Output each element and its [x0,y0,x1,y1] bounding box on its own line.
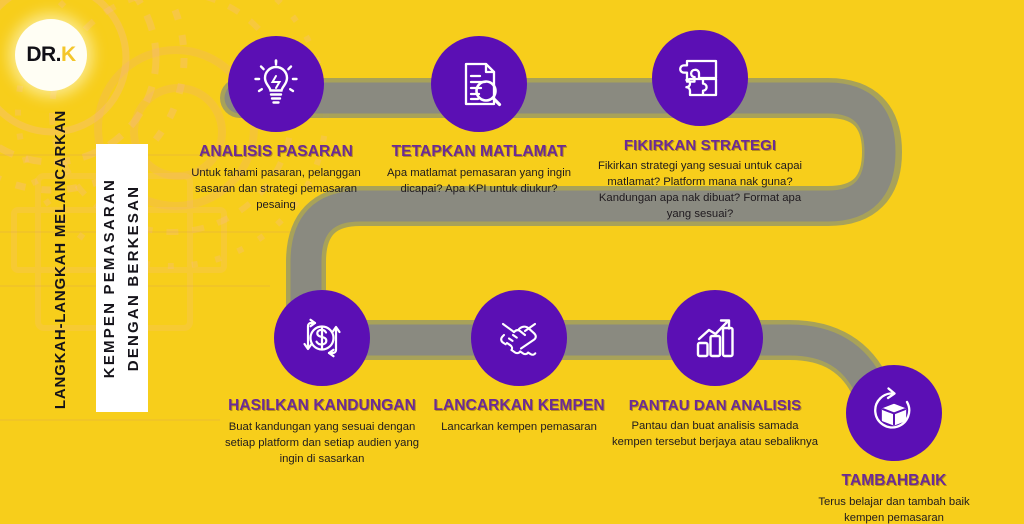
step-4-body: Buat kandungan yang sesuai dengan setiap… [218,419,426,467]
step-6[interactable]: PANTAU DAN ANALISIS Pantau dan buat anal… [612,290,818,450]
step-1[interactable]: ANALISIS PASARAN Untuk fahami pasaran, p… [178,36,374,213]
headline-boxed-line-1: KEMPEN PEMASARAN [101,178,118,378]
logo-text-primary: DR. [26,43,61,66]
dollar-cycle-icon [295,311,349,365]
step-3-heading: FIKIRKAN STRATEGI [590,137,810,154]
bar-chart-growth-icon [688,311,742,365]
step-2[interactable]: TETAPKAN MATLAMAT Apa matlamat pemasaran… [385,36,573,197]
box-refresh-icon [867,386,921,440]
step-6-body: Pantau dan buat analisis samada kempen t… [612,418,818,450]
infographic-canvas: DR.K LANGKAH-LANGKAH MELANCARKAN KEMPEN … [0,0,1024,524]
logo-text-accent: K [61,43,76,66]
step-7[interactable]: TAMBAHBAIK Terus belajar dan tambah baik… [800,365,988,524]
puzzle-pieces-icon [674,52,726,104]
headline-line-1: LANGKAH-LANGKAH MELANCARKAN [52,110,69,409]
headline-boxed-line-2: DENGAN BERKESAN [125,185,142,371]
step-6-heading: PANTAU DAN ANALISIS [612,397,818,414]
step-5-node[interactable] [471,290,567,386]
headline-panel: KEMPEN PEMASARAN DENGAN BERKESAN [96,144,148,412]
headline-boxed: KEMPEN PEMASARAN DENGAN BERKESAN [98,178,146,378]
step-4-heading: HASILKAN KANDUNGAN [218,397,426,415]
step-3[interactable]: FIKIRKAN STRATEGI Fikirkan strategi yang… [590,30,810,222]
step-1-heading: ANALISIS PASARAN [178,143,374,161]
step-3-node[interactable] [652,30,748,126]
step-5-body: Lancarkan kempen pemasaran [428,419,610,435]
step-1-node[interactable] [228,36,324,132]
step-7-body: Terus belajar dan tambah baik kempen pem… [800,494,988,524]
document-search-icon [453,58,505,110]
step-3-body: Fikirkan strategi yang sesuai untuk capa… [590,158,810,222]
step-1-body: Untuk fahami pasaran, pelanggan sasaran … [178,165,374,213]
handshake-icon [491,310,547,366]
step-7-heading: TAMBAHBAIK [800,472,988,490]
step-4[interactable]: HASILKAN KANDUNGAN Buat kandungan yang s… [218,290,426,467]
step-2-node[interactable] [431,36,527,132]
step-5[interactable]: LANCARKAN KEMPEN Lancarkan kempen pemasa… [428,290,610,435]
step-2-body: Apa matlamat pemasaran yang ingin dicapa… [385,165,573,197]
step-2-heading: TETAPKAN MATLAMAT [385,143,573,161]
lightbulb-icon [250,58,302,110]
step-4-node[interactable] [274,290,370,386]
step-5-heading: LANCARKAN KEMPEN [428,397,610,415]
step-6-node[interactable] [667,290,763,386]
dr-k-logo: DR.K [15,19,87,91]
step-7-node[interactable] [846,365,942,461]
